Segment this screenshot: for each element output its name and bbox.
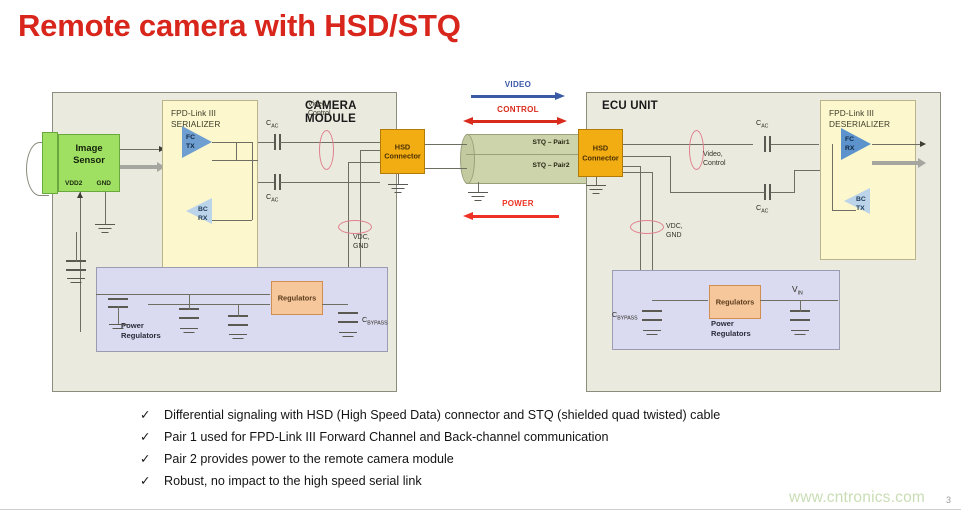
video-arrow-line xyxy=(471,95,557,98)
ground-cm-left-icon xyxy=(67,278,85,287)
hsd-connector-camera: HSD Connector xyxy=(380,129,425,174)
deserializer-fc-rx-label: FC RX xyxy=(845,136,854,153)
sensor-vdd2-pin-label: VDD2 xyxy=(65,180,82,187)
ground-cbypass-cm-icon xyxy=(339,332,357,341)
arrowhead-des-out-bot-icon xyxy=(918,158,926,168)
serializer-bc-rx-label: BC RX xyxy=(198,206,208,223)
wire-ecu-sig-top xyxy=(623,144,753,145)
capacitor-ac-top-cm-label: CAC xyxy=(266,118,278,129)
hsd-connector-ecu: HSD Connector xyxy=(578,129,623,177)
wire-hsd-cm-pwr2 xyxy=(360,150,361,282)
video-signal-row: VIDEO xyxy=(463,80,573,102)
image-sensor-block xyxy=(42,132,58,194)
arrowhead-des-out-top-icon xyxy=(920,141,926,147)
wire-cap-pwr-cm-2 xyxy=(189,294,190,310)
wire-ecu-sig-mid-v xyxy=(670,156,671,192)
wire-hsd-cm-pwr2-h xyxy=(360,150,380,151)
deserializer-title: FPD-Link III DESERIALIZER xyxy=(829,108,890,130)
check-icon: ✓ xyxy=(140,450,150,470)
bullet-text: Pair 2 provides power to the remote came… xyxy=(164,452,454,466)
wire-ecu-cap-top-out xyxy=(771,144,819,145)
power-arrowhead-left-icon xyxy=(463,212,473,220)
annotation-video-control-cm: Video, Control xyxy=(308,100,331,118)
wire-ecu-cap-bot-to-des xyxy=(794,170,820,171)
vin-label: VIN xyxy=(792,284,803,297)
wire-ecu-cap-bot-out xyxy=(771,192,795,193)
wire-des-bc-up xyxy=(832,144,833,210)
annotation-vdc-gnd-ecu: VDC, GND xyxy=(666,222,683,240)
ground-pwr-cm-2-icon xyxy=(180,328,198,337)
wire-ecu-pwr2-h xyxy=(623,172,653,173)
ground-cbypass-ecu-icon xyxy=(643,330,661,339)
regulators-box-ecu: Regulators xyxy=(709,285,761,319)
ground-hsd-ecu-icon xyxy=(586,185,606,196)
arrowhead-sensor-vdd2-icon xyxy=(77,192,83,198)
wire-cap-pwr-cm-3 xyxy=(238,304,239,317)
bullet-text: Pair 1 used for FPD-Link III Forward Cha… xyxy=(164,430,609,444)
check-icon: ✓ xyxy=(140,406,150,426)
list-item: ✓ Differential signaling with HSD (High … xyxy=(140,406,950,426)
bullet-list: ✓ Differential signaling with HSD (High … xyxy=(140,406,950,494)
regulators-ecu-label: Regulators xyxy=(710,298,760,307)
control-arrowhead-right-icon xyxy=(557,117,567,125)
capacitor-cbypass-cm-label: CBYPASS xyxy=(362,315,388,326)
wire-des-out-top xyxy=(872,144,922,145)
fc-tx-line1: FC xyxy=(186,134,195,143)
wire-cap-cm-left xyxy=(76,232,77,262)
annotation-video-control-ecu: Video, Control xyxy=(703,150,726,168)
control-signal-row: CONTROL xyxy=(463,105,573,127)
wire-sensor-gnd xyxy=(105,192,106,224)
ground-vin-ecu-icon xyxy=(791,330,809,339)
power-signal-row: POWER xyxy=(463,199,573,223)
page-title: Remote camera with HSD/STQ xyxy=(18,8,461,44)
wire-ecu-cap-bot-in xyxy=(704,192,765,193)
wire-hsd-cm-gnd xyxy=(398,174,399,184)
wire-cap-pwr-cm-1 xyxy=(118,306,119,324)
sensor-gnd-pin-label: GND xyxy=(97,180,111,187)
wire-cable-gnd-left xyxy=(478,182,479,192)
hsd-connector-camera-label: HSD Connector xyxy=(381,142,424,161)
bullet-text: Robust, no impact to the high speed seri… xyxy=(164,474,422,488)
wire-sensor-fc xyxy=(120,149,162,150)
power-signal-label: POWER xyxy=(463,199,573,208)
ground-pwr-cm-1-icon xyxy=(109,324,127,333)
capacitor-cbypass-ecu-label: CBYPASS xyxy=(612,310,638,321)
capacitor-ac-top-ecu-label: CAC xyxy=(756,118,768,129)
image-sensor-label: Image Sensor xyxy=(59,142,119,166)
wire-cable-in-top xyxy=(425,144,467,145)
regulators-camera-label: Regulators xyxy=(272,294,322,303)
annotation-ellipse-video-control-ecu-icon xyxy=(689,130,704,170)
image-sensor-label-line1: Image xyxy=(59,142,119,154)
wire-ecu-pwr-rail-out xyxy=(760,300,838,301)
capacitor-ac-bottom-ecu-icon xyxy=(764,184,771,200)
block-diagram: CAMERA MODULE Image Sensor VDD2 GND xyxy=(8,72,953,402)
annotation-ellipse-video-control-cm-icon xyxy=(319,130,334,170)
capacitor-ac-bottom-ecu-label: CAC xyxy=(756,203,768,214)
check-icon: ✓ xyxy=(140,428,150,448)
footer-divider xyxy=(0,509,961,510)
annotation-ellipse-vdc-gnd-ecu-icon xyxy=(630,220,664,234)
video-signal-label: VIDEO xyxy=(463,80,573,89)
wire-ser-bc-out xyxy=(212,220,252,221)
wire-pwr-cm-rail-mid xyxy=(148,304,270,305)
control-signal-label: CONTROL xyxy=(463,105,573,114)
list-item: ✓ Pair 2 provides power to the remote ca… xyxy=(140,450,950,470)
wire-des-out-bot xyxy=(872,161,920,165)
wire-cap-top-in-cm xyxy=(258,142,275,143)
serializer-title-line1: FPD-Link III xyxy=(171,108,220,119)
fc-tx-line2: TX xyxy=(186,143,195,152)
wire-ecu-sig-mid-h2 xyxy=(670,192,704,193)
capacitor-ac-top-ecu-icon xyxy=(764,136,771,152)
power-arrow-line xyxy=(473,215,559,218)
bc-rx-line2: RX xyxy=(198,215,208,224)
ground-pwr-cm-3-icon xyxy=(229,334,247,343)
control-arrowhead-left-icon xyxy=(463,117,473,125)
power-regulators-ecu-label: Power Regulators xyxy=(711,319,751,339)
image-sensor-label-line2: Sensor xyxy=(59,154,119,166)
wire-ser-fc-down xyxy=(236,142,237,160)
hsd-connector-ecu-label: HSD Connector xyxy=(579,144,622,163)
wire-pwr-cm-rail-top xyxy=(96,294,270,295)
wire-ecu-cap-bot-up xyxy=(794,170,795,193)
annotation-vdc-gnd-cm: VDC, GND xyxy=(353,233,370,251)
wire-cap-bot-out-cm xyxy=(280,182,380,183)
bc-rx-line1: BC xyxy=(198,206,208,215)
wire-hsd-ecu-gnd xyxy=(596,177,597,185)
list-item: ✓ Pair 1 used for FPD-Link III Forward C… xyxy=(140,428,950,448)
deserializer-bc-tx-label: BC TX xyxy=(856,196,866,213)
wire-cable-in-bot xyxy=(425,168,467,169)
serializer-fc-tx-label: FC TX xyxy=(186,134,195,151)
deserializer-title-line1: FPD-Link III xyxy=(829,108,890,119)
wire-ecu-pwr1-h xyxy=(623,166,641,167)
deserializer-block: FPD-Link III DESERIALIZER xyxy=(820,100,916,260)
regulators-box-camera: Regulators xyxy=(271,281,323,315)
ground-hsd-camera-icon xyxy=(388,184,408,195)
watermark: www.cntronics.com xyxy=(789,489,925,507)
wire-ser-bc-up xyxy=(252,142,253,220)
image-sensor-body: Image Sensor VDD2 GND xyxy=(58,134,120,192)
slide-canvas: Remote camera with HSD/STQ CAMERA MODULE… xyxy=(0,0,961,518)
video-arrowhead-right-icon xyxy=(555,92,565,100)
control-arrow-line xyxy=(473,120,559,123)
ground-sensor-icon xyxy=(95,224,115,235)
check-icon: ✓ xyxy=(140,472,150,492)
bullet-text: Differential signaling with HSD (High Sp… xyxy=(164,408,720,422)
wire-cap-bot-in-cm xyxy=(258,182,275,183)
wire-ecu-pwr-rail-in xyxy=(652,300,708,301)
wire-des-bc-h xyxy=(832,210,856,211)
ecu-unit-label: ECU UNIT xyxy=(602,100,658,113)
wire-hsd-cm-pwr1-h xyxy=(348,162,380,163)
page-number: 3 xyxy=(946,495,951,505)
wire-sensor-bc xyxy=(120,165,162,169)
wire-ser-fc-out xyxy=(212,142,252,143)
capacitor-ac-bottom-cm-label: CAC xyxy=(266,192,278,203)
wire-pwr-cm-rail-out xyxy=(322,304,348,305)
wire-ecu-sig-mid xyxy=(623,156,671,157)
annotation-ellipse-vdc-gnd-cm-icon xyxy=(338,220,372,234)
wire-vin-drop xyxy=(800,300,801,312)
